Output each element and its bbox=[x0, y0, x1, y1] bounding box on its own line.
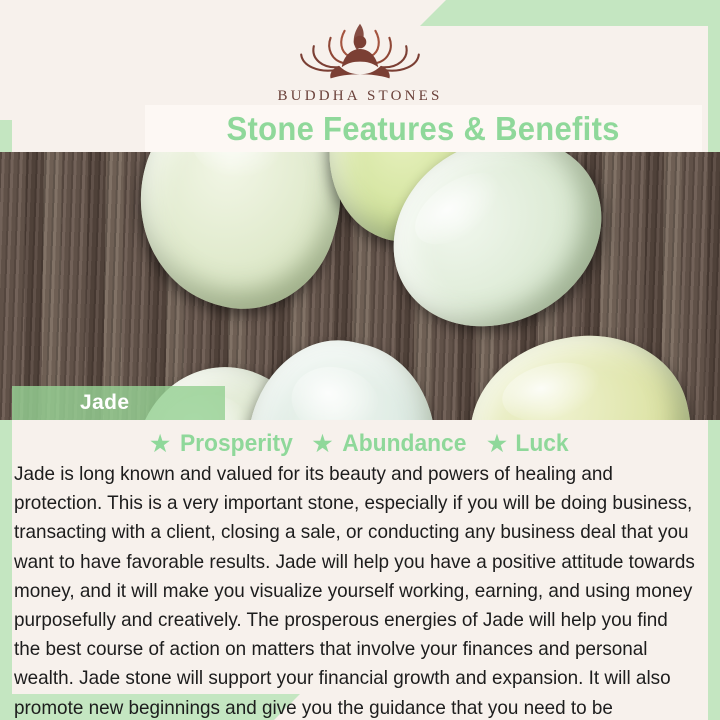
page-title: Stone Features & Benefits bbox=[227, 110, 620, 148]
benefit-label-luck: Luck bbox=[515, 430, 568, 458]
benefit-label-abundance: Abundance bbox=[343, 430, 467, 458]
benefits-row: ★ Prosperity ★ Abundance ★ Luck bbox=[12, 430, 708, 458]
brand-logo: BUDDHA STONES bbox=[0, 14, 720, 105]
stone-name-badge: Jade bbox=[12, 386, 225, 420]
hero-image bbox=[0, 152, 720, 420]
brand-name: BUDDHA STONES bbox=[277, 88, 442, 105]
star-icon: ★ bbox=[150, 433, 170, 455]
title-bar: Stone Features & Benefits bbox=[145, 105, 702, 153]
description-text: Jade is long known and valued for its be… bbox=[14, 460, 696, 720]
poster-canvas: BUDDHA STONES Stone Features & Benefits … bbox=[0, 0, 720, 720]
stone-name-label: Jade bbox=[80, 391, 129, 415]
benefit-label-prosperity: Prosperity bbox=[180, 430, 293, 458]
lotus-meditation-icon bbox=[290, 14, 430, 84]
star-icon: ★ bbox=[313, 433, 333, 455]
star-icon: ★ bbox=[487, 433, 507, 455]
